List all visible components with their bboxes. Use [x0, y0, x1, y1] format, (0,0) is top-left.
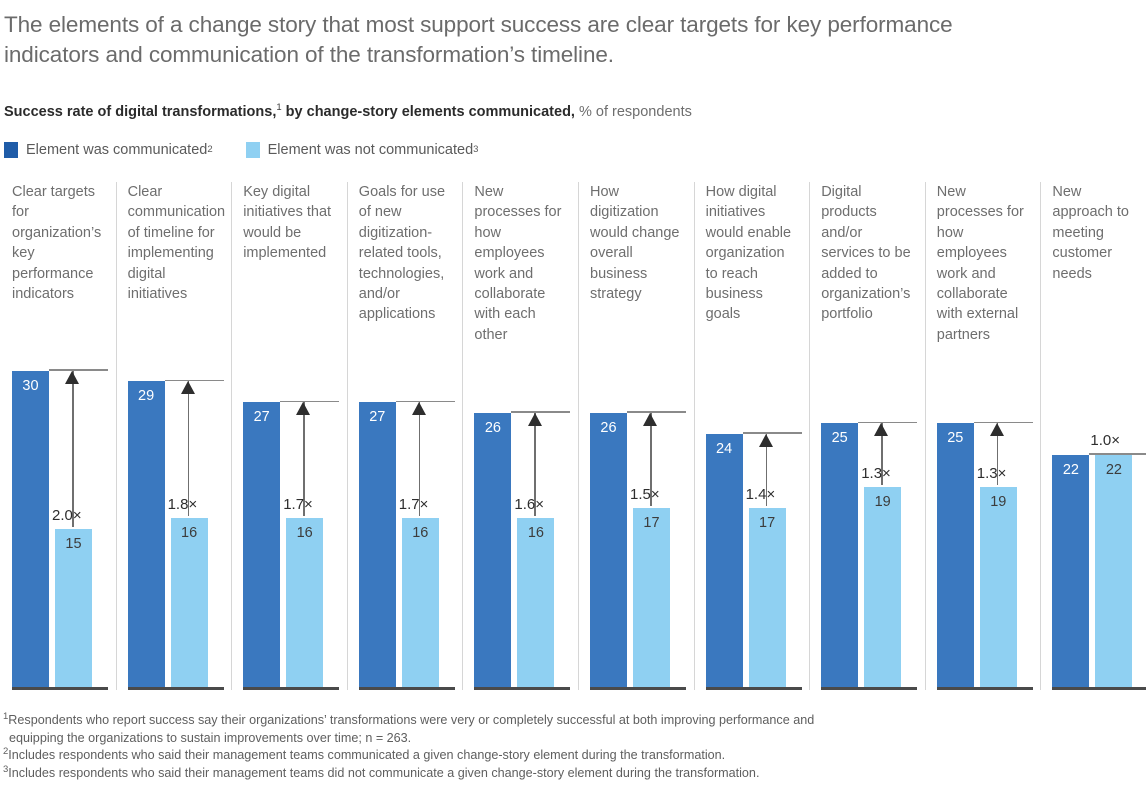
bar-not-communicated[interactable]: 16 — [286, 518, 323, 687]
column-bars: 22221.0× — [1052, 182, 1146, 690]
delta-arrow-head — [759, 434, 773, 447]
chart-column-9: New processes for how employees work and… — [925, 182, 1041, 690]
axis-baseline — [706, 687, 802, 690]
bar-communicated[interactable]: 30 — [12, 371, 49, 688]
bar-value-communicated: 27 — [243, 408, 280, 426]
bar-not-communicated[interactable]: 17 — [633, 508, 670, 687]
footnote-text: Respondents who report success say their… — [8, 713, 814, 727]
bar-value-not-communicated: 16 — [517, 524, 554, 542]
page-title: The elements of a change story that most… — [4, 10, 1014, 70]
subtitle-strong-b: by change-story elements communicated, — [282, 104, 575, 120]
bar-value-communicated: 22 — [1052, 461, 1089, 479]
axis-baseline — [937, 687, 1033, 690]
bar-value-communicated: 25 — [821, 429, 858, 447]
subtitle-light: % of respondents — [575, 104, 692, 120]
column-bars: 24171.4× — [706, 182, 802, 690]
subtitle-strong-a: Success rate of digital transformations, — [4, 104, 276, 120]
chart-column-7: How digital initiatives would enable org… — [694, 182, 810, 690]
axis-baseline — [590, 687, 686, 690]
footnote-line-4: 3Includes respondents who said their man… — [3, 765, 1143, 783]
footnote-text: Includes respondents who said their mana… — [8, 748, 725, 762]
ratio-label: 1.7× — [283, 496, 313, 514]
delta-arrow-head — [874, 423, 888, 436]
bar-communicated[interactable]: 24 — [706, 434, 743, 687]
chart-column-2: Clear communication of timeline for impl… — [116, 182, 232, 690]
legend-swatch-communicated — [4, 142, 18, 158]
delta-arrow-head — [181, 381, 195, 394]
column-separator — [809, 182, 810, 690]
column-bars: 30152.0× — [12, 182, 108, 690]
ratio-label: 1.8× — [168, 496, 198, 514]
chart-column-6: How digitization would change overall bu… — [578, 182, 694, 690]
ratio-label: 1.0× — [1090, 432, 1120, 450]
bar-communicated[interactable]: 29 — [128, 381, 165, 687]
ratio-label: 1.5× — [630, 486, 660, 504]
column-separator — [116, 182, 117, 690]
bar-communicated[interactable]: 22 — [1052, 455, 1089, 687]
column-bars: 27161.7× — [243, 182, 339, 690]
axis-baseline — [12, 687, 108, 690]
bar-value-communicated: 26 — [474, 419, 511, 437]
chart-column-1: Clear targets for organization’s key per… — [0, 182, 116, 690]
bar-not-communicated[interactable]: 15 — [55, 529, 92, 687]
column-bars: 27161.7× — [359, 182, 455, 690]
delta-arrow-head — [990, 423, 1004, 436]
ratio-label: 1.7× — [399, 496, 429, 514]
delta-arrow-stem — [72, 371, 74, 527]
bar-value-not-communicated: 16 — [286, 524, 323, 542]
bar-not-communicated[interactable]: 17 — [749, 508, 786, 687]
footnotes: 1Respondents who report success say thei… — [3, 712, 1143, 782]
delta-arrow-head — [643, 413, 657, 426]
column-bars: 29161.8× — [128, 182, 224, 690]
bar-not-communicated[interactable]: 16 — [171, 518, 208, 687]
chart-subtitle: Success rate of digital transformations,… — [4, 103, 692, 121]
footnote-line-3: 2Includes respondents who said their man… — [3, 747, 1143, 765]
axis-baseline — [821, 687, 917, 690]
legend-label-not-communicated: Element was not communicated — [268, 142, 474, 158]
reference-rule — [1089, 453, 1146, 455]
ratio-label: 2.0× — [52, 507, 82, 525]
column-separator — [231, 182, 232, 690]
bar-value-communicated: 27 — [359, 408, 396, 426]
bar-value-communicated: 30 — [12, 377, 49, 395]
bar-value-not-communicated: 17 — [749, 514, 786, 532]
bar-value-communicated: 24 — [706, 440, 743, 458]
bar-value-not-communicated: 17 — [633, 514, 670, 532]
legend-label-communicated: Element was communicated — [26, 142, 207, 158]
chart-column-10: New approach to meeting customer needs22… — [1040, 182, 1146, 690]
footnote-line-2: equipping the organizations to sustain i… — [3, 730, 1143, 748]
legend-item-not-communicated[interactable]: Element was not communicated3 — [246, 142, 479, 158]
axis-baseline — [474, 687, 570, 690]
column-separator — [578, 182, 579, 690]
bar-communicated[interactable]: 25 — [821, 423, 858, 687]
bar-not-communicated[interactable]: 19 — [864, 487, 901, 687]
ratio-label: 1.6× — [514, 496, 544, 514]
delta-arrow-head — [296, 402, 310, 415]
bar-communicated[interactable]: 26 — [590, 413, 627, 687]
legend-swatch-not-communicated — [246, 142, 260, 158]
bar-not-communicated[interactable]: 16 — [402, 518, 439, 687]
chart-column-3: Key digital initiatives that would be im… — [231, 182, 347, 690]
axis-baseline — [243, 687, 339, 690]
column-separator — [1040, 182, 1041, 690]
bar-communicated[interactable]: 26 — [474, 413, 511, 687]
delta-arrow-head — [65, 371, 79, 384]
column-bars: 25191.3× — [937, 182, 1033, 690]
column-bars: 26171.5× — [590, 182, 686, 690]
bar-value-communicated: 29 — [128, 387, 165, 405]
chart-column-4: Goals for use of new digitization-relate… — [347, 182, 463, 690]
bar-value-not-communicated: 15 — [55, 535, 92, 553]
legend-item-communicated[interactable]: Element was communicated2 — [4, 142, 213, 158]
bar-value-communicated: 25 — [937, 429, 974, 447]
bar-value-not-communicated: 19 — [864, 493, 901, 511]
column-bars: 26161.6× — [474, 182, 570, 690]
footnote-text: Includes respondents who said their mana… — [8, 766, 759, 780]
chart-column-5: New processes for how employees work and… — [462, 182, 578, 690]
bar-not-communicated[interactable]: 19 — [980, 487, 1017, 687]
column-separator — [925, 182, 926, 690]
bar-communicated[interactable]: 27 — [243, 402, 280, 687]
bar-value-not-communicated: 19 — [980, 493, 1017, 511]
axis-baseline — [1052, 687, 1146, 690]
axis-baseline — [359, 687, 455, 690]
bar-value-not-communicated: 16 — [171, 524, 208, 542]
bar-value-not-communicated: 22 — [1095, 461, 1132, 479]
footnote-line-1: 1Respondents who report success say thei… — [3, 712, 1143, 730]
delta-arrow-head — [412, 402, 426, 415]
column-bars: 25191.3× — [821, 182, 917, 690]
column-separator — [347, 182, 348, 690]
bar-value-communicated: 26 — [590, 419, 627, 437]
bar-communicated[interactable]: 25 — [937, 423, 974, 687]
chart-page: The elements of a change story that most… — [0, 0, 1146, 798]
bar-value-not-communicated: 16 — [402, 524, 439, 542]
bar-communicated[interactable]: 27 — [359, 402, 396, 687]
ratio-label: 1.3× — [861, 465, 891, 483]
ratio-label: 1.4× — [746, 486, 776, 504]
column-separator — [694, 182, 695, 690]
footnote-text: equipping the organizations to sustain i… — [9, 731, 411, 745]
ratio-label: 1.3× — [977, 465, 1007, 483]
chart-column-8: Digital products and/or services to be a… — [809, 182, 925, 690]
chart-legend: Element was communicated2 Element was no… — [4, 142, 478, 158]
bar-not-communicated[interactable]: 16 — [517, 518, 554, 687]
column-separator — [462, 182, 463, 690]
delta-arrow-head — [528, 413, 542, 426]
bar-not-communicated[interactable]: 22 — [1095, 455, 1132, 687]
axis-baseline — [128, 687, 224, 690]
bar-chart: Clear targets for organization’s key per… — [0, 182, 1146, 690]
